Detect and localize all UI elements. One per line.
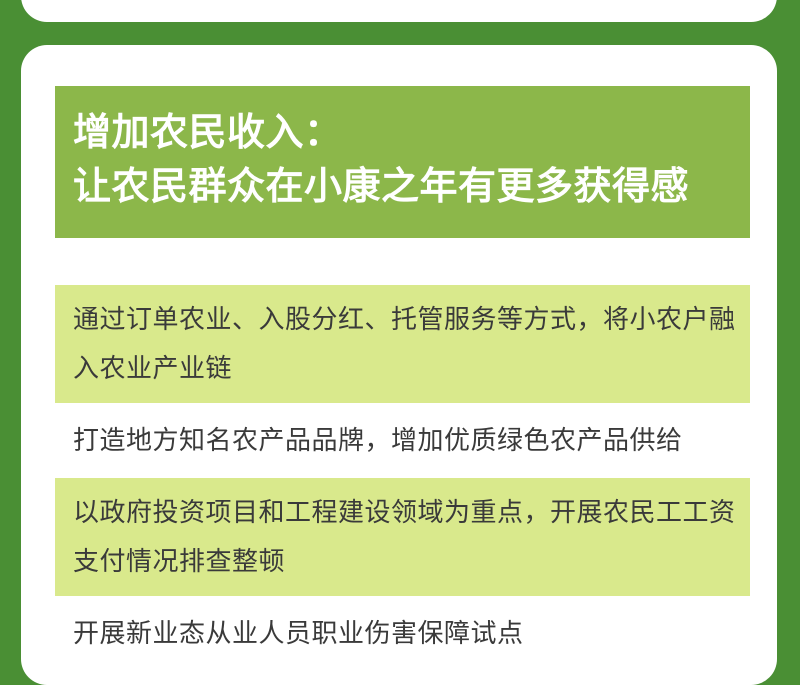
list-item: 开展新业态从业人员职业伤害保障试点 (55, 599, 750, 668)
list-item-text: 通过订单农业、入股分红、托管服务等方式，将小农户融入农业产业链 (73, 295, 736, 393)
list-item: 通过订单农业、入股分红、托管服务等方式，将小农户融入农业产业链 (55, 285, 750, 403)
list-item-text: 以政府投资项目和工程建设领域为重点，开展农民工工资支付情况排查整顿 (73, 488, 736, 586)
banner-title-line-2: 让农民群众在小康之年有更多获得感 (73, 160, 750, 214)
banner-title-line-1: 增加农民收入： (73, 106, 750, 160)
previous-card-bottom-edge (21, 0, 777, 22)
list-item: 打造地方知名农产品品牌，增加优质绿色农产品供给 (55, 406, 750, 475)
section-header-banner: 增加农民收入： 让农民群众在小康之年有更多获得感 (55, 86, 750, 238)
measure-list: 通过订单农业、入股分红、托管服务等方式，将小农户融入农业产业链 打造地方知名农产… (55, 285, 750, 671)
list-item: 以政府投资项目和工程建设领域为重点，开展农民工工资支付情况排查整顿 (55, 478, 750, 596)
infographic-card: 增加农民收入： 让农民群众在小康之年有更多获得感 通过订单农业、入股分红、托管服… (21, 45, 777, 685)
list-item-text: 打造地方知名农产品品牌，增加优质绿色农产品供给 (73, 416, 736, 465)
list-item-text: 开展新业态从业人员职业伤害保障试点 (73, 609, 736, 658)
